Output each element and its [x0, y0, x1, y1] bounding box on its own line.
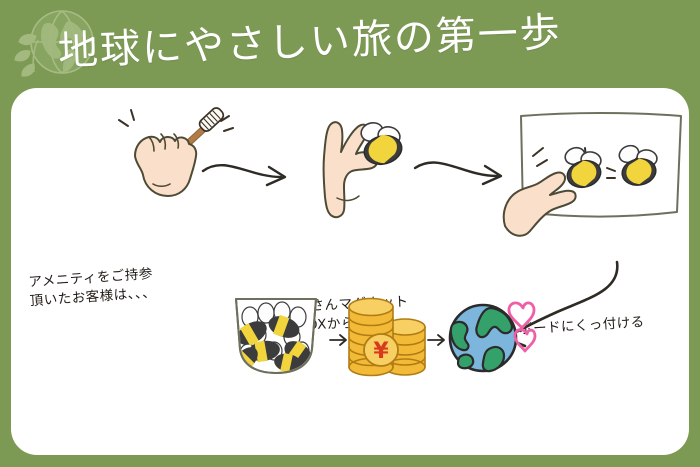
poster-root: 地球にやさしい旅の第一歩 — [0, 0, 700, 467]
curved-arrow-right-icon — [199, 151, 309, 201]
earth-with-hearts-icon — [439, 286, 549, 381]
header-band: 地球にやさしい旅の第一歩 — [0, 0, 700, 95]
step-1-label: アメニティをご持参 頂いたお客様は、、、 — [28, 259, 245, 312]
page-title: 地球にやさしい旅の第一歩 — [57, 0, 679, 92]
yen-coin-stack-icon: ¥ — [341, 293, 431, 378]
hand-placing-magnet-on-board-icon — [511, 108, 689, 238]
content-card: アメニティをご持参 頂いたお客様は、、、 — [11, 88, 689, 455]
yen-symbol: ¥ — [373, 339, 389, 364]
curved-arrow-right-icon-2 — [411, 150, 521, 200]
jar-of-bee-magnets-icon — [226, 293, 326, 378]
